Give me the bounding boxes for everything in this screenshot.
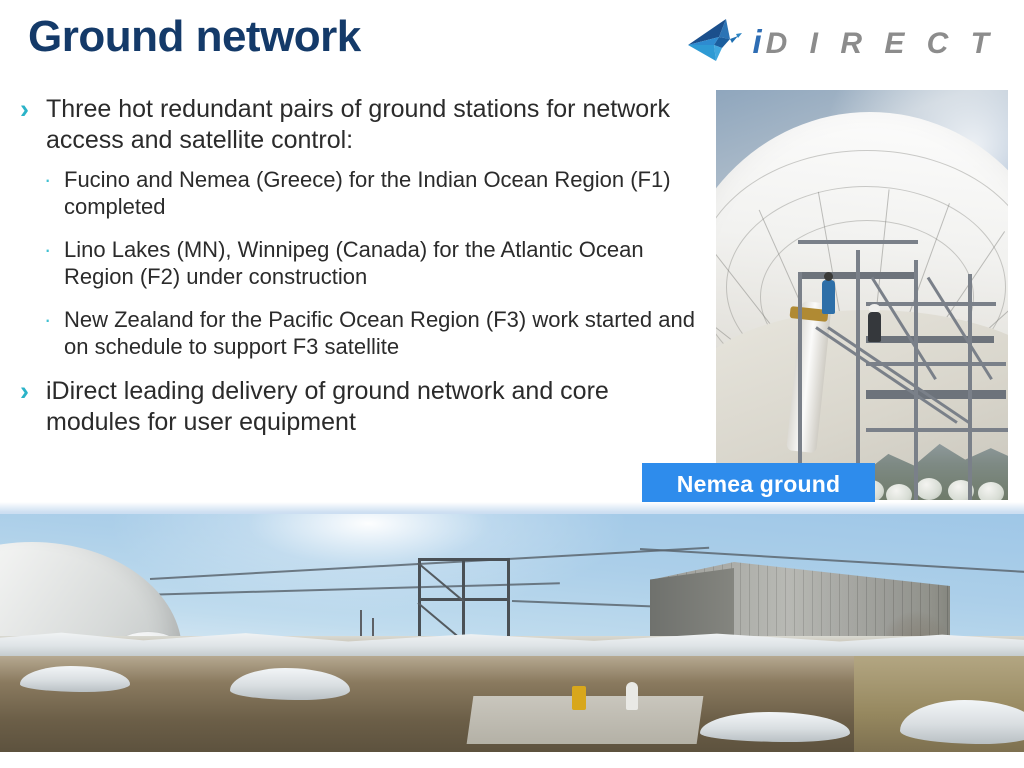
caption-line-1: Nemea ground xyxy=(677,470,840,499)
logo-word-i: i xyxy=(752,23,762,61)
photo-platform xyxy=(866,336,994,343)
dot-bullet-icon: · xyxy=(44,236,64,263)
photo-bushes xyxy=(854,472,1008,500)
photo-bush xyxy=(978,482,1004,500)
photo-post xyxy=(914,260,918,500)
photo-propane-tank xyxy=(626,682,638,710)
ground-station-site-photo xyxy=(0,514,1024,752)
photo-scaffold-brace xyxy=(417,562,464,602)
page-title: Ground network xyxy=(28,14,361,60)
chevron-right-icon: › xyxy=(18,376,46,406)
photo-rail xyxy=(798,240,918,244)
photo-post xyxy=(968,274,972,500)
bullet-level2-1-text: Fucino and Nemea (Greece) for the Indian… xyxy=(64,166,708,220)
bullet-level2-2: · Lino Lakes (MN), Winnipeg (Canada) for… xyxy=(18,236,708,290)
photo-worker xyxy=(868,312,881,342)
photo-bush xyxy=(886,484,912,500)
photo-rail xyxy=(866,428,1008,432)
sub-bullet-list: · Fucino and Nemea (Greece) for the Indi… xyxy=(18,166,708,360)
dot-bullet-icon: · xyxy=(44,306,64,333)
photo-bush xyxy=(916,478,942,500)
photo-yellow-tank xyxy=(572,686,586,710)
photo-scaffold-rail xyxy=(418,558,510,561)
nemea-antenna-photo xyxy=(716,90,1008,500)
bullet-level2-3-text: New Zealand for the Pacific Ocean Region… xyxy=(64,306,708,360)
chevron-right-icon: › xyxy=(18,94,46,124)
bullet-level2-1: · Fucino and Nemea (Greece) for the Indi… xyxy=(18,166,708,220)
idirect-wordmark: i D I R E C T xyxy=(752,23,996,61)
content-bullets: › Three hot redundant pairs of ground st… xyxy=(18,94,708,448)
dot-bullet-icon: · xyxy=(44,166,64,193)
slide-canvas: Ground network i D I R E C T › Three hot… xyxy=(0,0,1024,768)
idirect-logo: i D I R E C T xyxy=(686,18,996,66)
logo-word-direct: D I R E C T xyxy=(766,27,996,61)
bullet-level2-3: · New Zealand for the Pacific Ocean Regi… xyxy=(18,306,708,360)
photo-worker xyxy=(822,280,835,314)
bullet-level1-1: › Three hot redundant pairs of ground st… xyxy=(18,94,708,156)
idirect-star-icon xyxy=(686,18,748,62)
bullet-level1-2-text: iDirect leading delivery of ground netwo… xyxy=(46,376,708,438)
bullet-level1-2: › iDirect leading delivery of ground net… xyxy=(18,376,708,438)
bullet-level1-1-text: Three hot redundant pairs of ground stat… xyxy=(46,94,708,156)
bullet-level2-2-text: Lino Lakes (MN), Winnipeg (Canada) for t… xyxy=(64,236,708,290)
